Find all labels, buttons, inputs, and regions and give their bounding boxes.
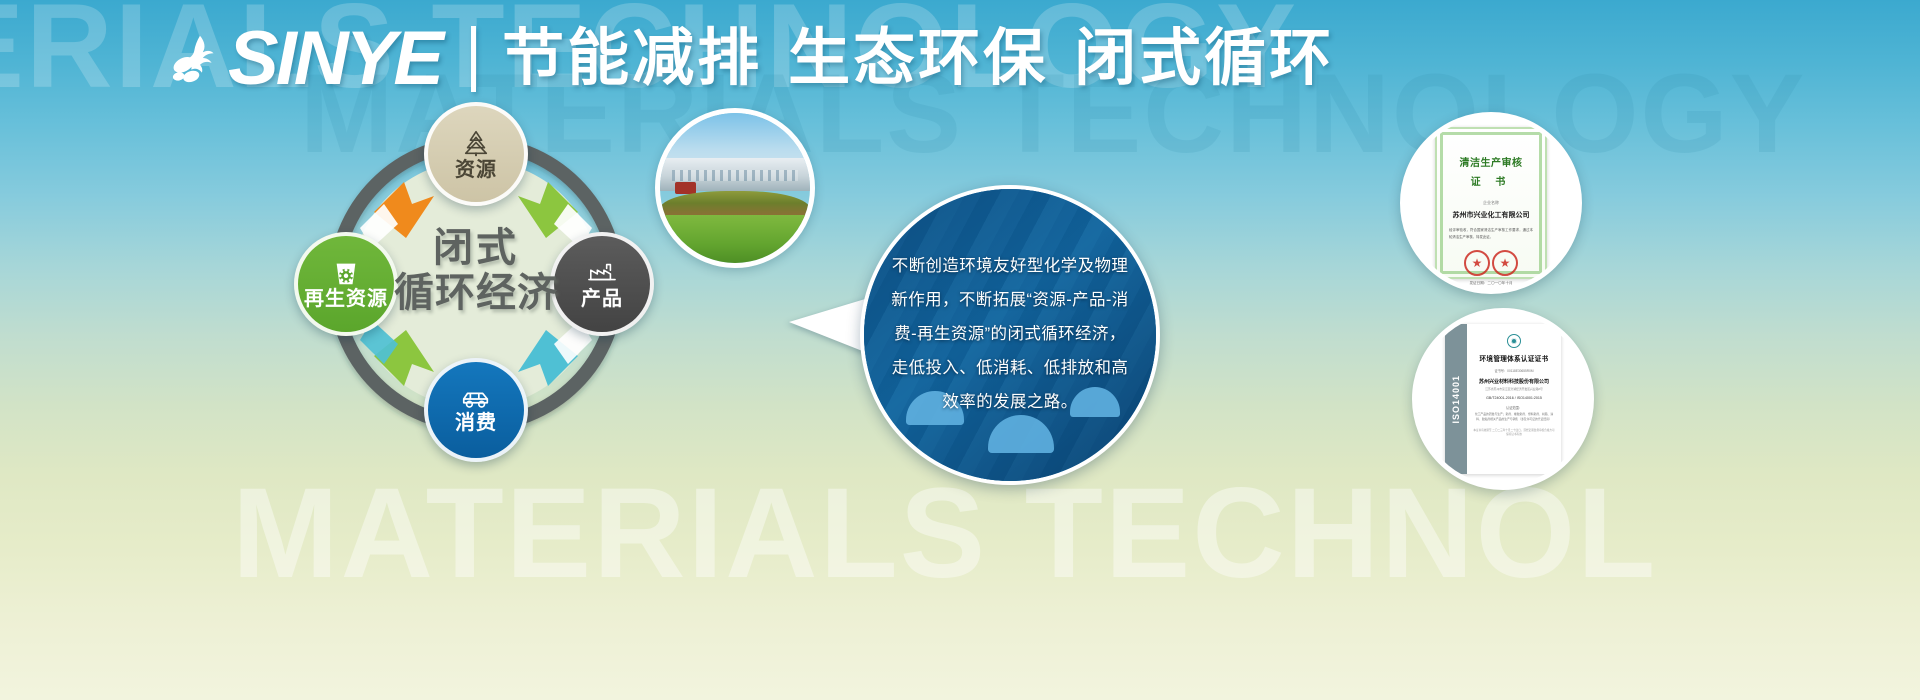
water-splash-logo-icon: [168, 28, 230, 90]
cert1-title-line-1: 清洁生产审核: [1445, 154, 1537, 169]
cert1-date: 发证日期：二〇一〇年十月: [1445, 281, 1537, 286]
red-stamp-seal-icon: ★: [1464, 250, 1490, 276]
banner-headline: 节能减排生态环保闭式循环: [502, 28, 1334, 90]
node-label-resource: 资源: [455, 160, 497, 180]
factory-icon: [587, 259, 617, 287]
node-label-recycle: 再生资源: [304, 289, 388, 309]
cert2-scope: 化工产品的研发与生产；助剂、橡胶助剂、塑料助剂、树脂、涂料、胶粘剂相关产品的生产…: [1473, 412, 1555, 423]
recycle-bin-icon: [331, 259, 361, 287]
certificate-iso14001[interactable]: ISO14001 ✹ 环境管理体系认证证书 证书号：00118E30655R0M…: [1412, 308, 1594, 490]
tree-icon: [461, 128, 491, 158]
node-label-product: 产品: [581, 289, 623, 309]
node-label-consume: 消费: [455, 413, 497, 433]
cert2-scope-label: 认证范围：: [1473, 405, 1555, 410]
cert1-body: 经评审验收，符合国家清洁生产审核工作要求，通过本轮清洁生产审核，特发此证。: [1445, 227, 1537, 241]
promo-banner: ERIALS TECHNOLOGY MATERIALS TECHNOLOGY M…: [0, 0, 1920, 700]
headline-phrase-2: 生态环保: [788, 24, 1048, 93]
cert1-company: 苏州市兴业化工有限公司: [1445, 210, 1537, 220]
closed-loop-economy-diagram: 闭式 循环经济 资源: [300, 108, 652, 460]
watermark-bottom: MATERIALS TECHNOL: [232, 470, 1657, 598]
center-label-line-1: 闭式: [392, 226, 560, 271]
header-divider: [471, 26, 476, 92]
photo-truck: [675, 182, 696, 194]
certification-emblem-icon: ✹: [1507, 334, 1521, 348]
certificate-paper: ISO14001 ✹ 环境管理体系认证证书 证书号：00118E30655R0M…: [1445, 324, 1561, 474]
cert1-seals: ★ ★: [1445, 250, 1537, 276]
cert2-spine-text: ISO14001: [1451, 375, 1461, 424]
certificate-clean-production[interactable]: 清洁生产审核 证 书 企业名称 苏州市兴业化工有限公司 经评审验收，符合国家清洁…: [1400, 112, 1582, 294]
headline-phrase-3: 闭式循环: [1074, 24, 1334, 93]
speech-bubble: 不断创造环境友好型化学及物理新作用，不断拓展“资源-产品-消费-再生资源”的闭式…: [860, 185, 1160, 485]
cert2-spine: ISO14001: [1445, 324, 1467, 474]
center-label-line-2: 循环经济: [392, 271, 560, 316]
headline-phrase-1: 节能减排: [502, 24, 762, 93]
cert1-title-line-2: 证 书: [1445, 173, 1537, 188]
cert2-company: 苏州兴业材料科技股份有限公司: [1473, 378, 1555, 385]
certificate-paper: 清洁生产审核 证 书 企业名称 苏州市兴业化工有限公司 经评审验收，符合国家清洁…: [1435, 127, 1547, 279]
cert2-standard: GB/T24001-2016 / ISO14001:2015: [1473, 396, 1555, 400]
brand-wordmark: SINYE: [228, 21, 441, 97]
red-stamp-seal-icon: ★: [1492, 250, 1518, 276]
cert1-sub-label: 企业名称: [1445, 200, 1537, 206]
cert2-address: 江苏省苏州市吴江区汾湖经济开发区兴业路8号: [1473, 387, 1555, 391]
cert2-number: 证书号：00118E30655R0M: [1473, 368, 1555, 373]
diagram-node-product[interactable]: 产品: [550, 232, 654, 336]
diagram-center-label: 闭式 循环经济: [392, 226, 560, 316]
banner-header: SINYE 节能减排生态环保闭式循环: [168, 14, 1334, 104]
diagram-node-consume[interactable]: 消费: [424, 358, 528, 462]
bubble-paragraph: 不断创造环境友好型化学及物理新作用，不断拓展“资源-产品-消费-再生资源”的闭式…: [864, 189, 1156, 481]
cert2-footer: 本证书有效期至 二〇二三年十月二十四日，须经定期监督审核合格方可保持证书有效: [1473, 429, 1555, 438]
car-icon: [460, 387, 492, 411]
cert2-sheet: ✹ 环境管理体系认证证书 证书号：00118E30655R0M 苏州兴业材料科技…: [1467, 324, 1561, 474]
cert2-title: 环境管理体系认证证书: [1473, 353, 1555, 363]
diagram-node-resource[interactable]: 资源: [424, 102, 528, 206]
diagram-node-recycle[interactable]: 再生资源: [294, 232, 398, 336]
factory-campus-photo: [655, 108, 815, 268]
photo-lawn: [660, 215, 810, 263]
